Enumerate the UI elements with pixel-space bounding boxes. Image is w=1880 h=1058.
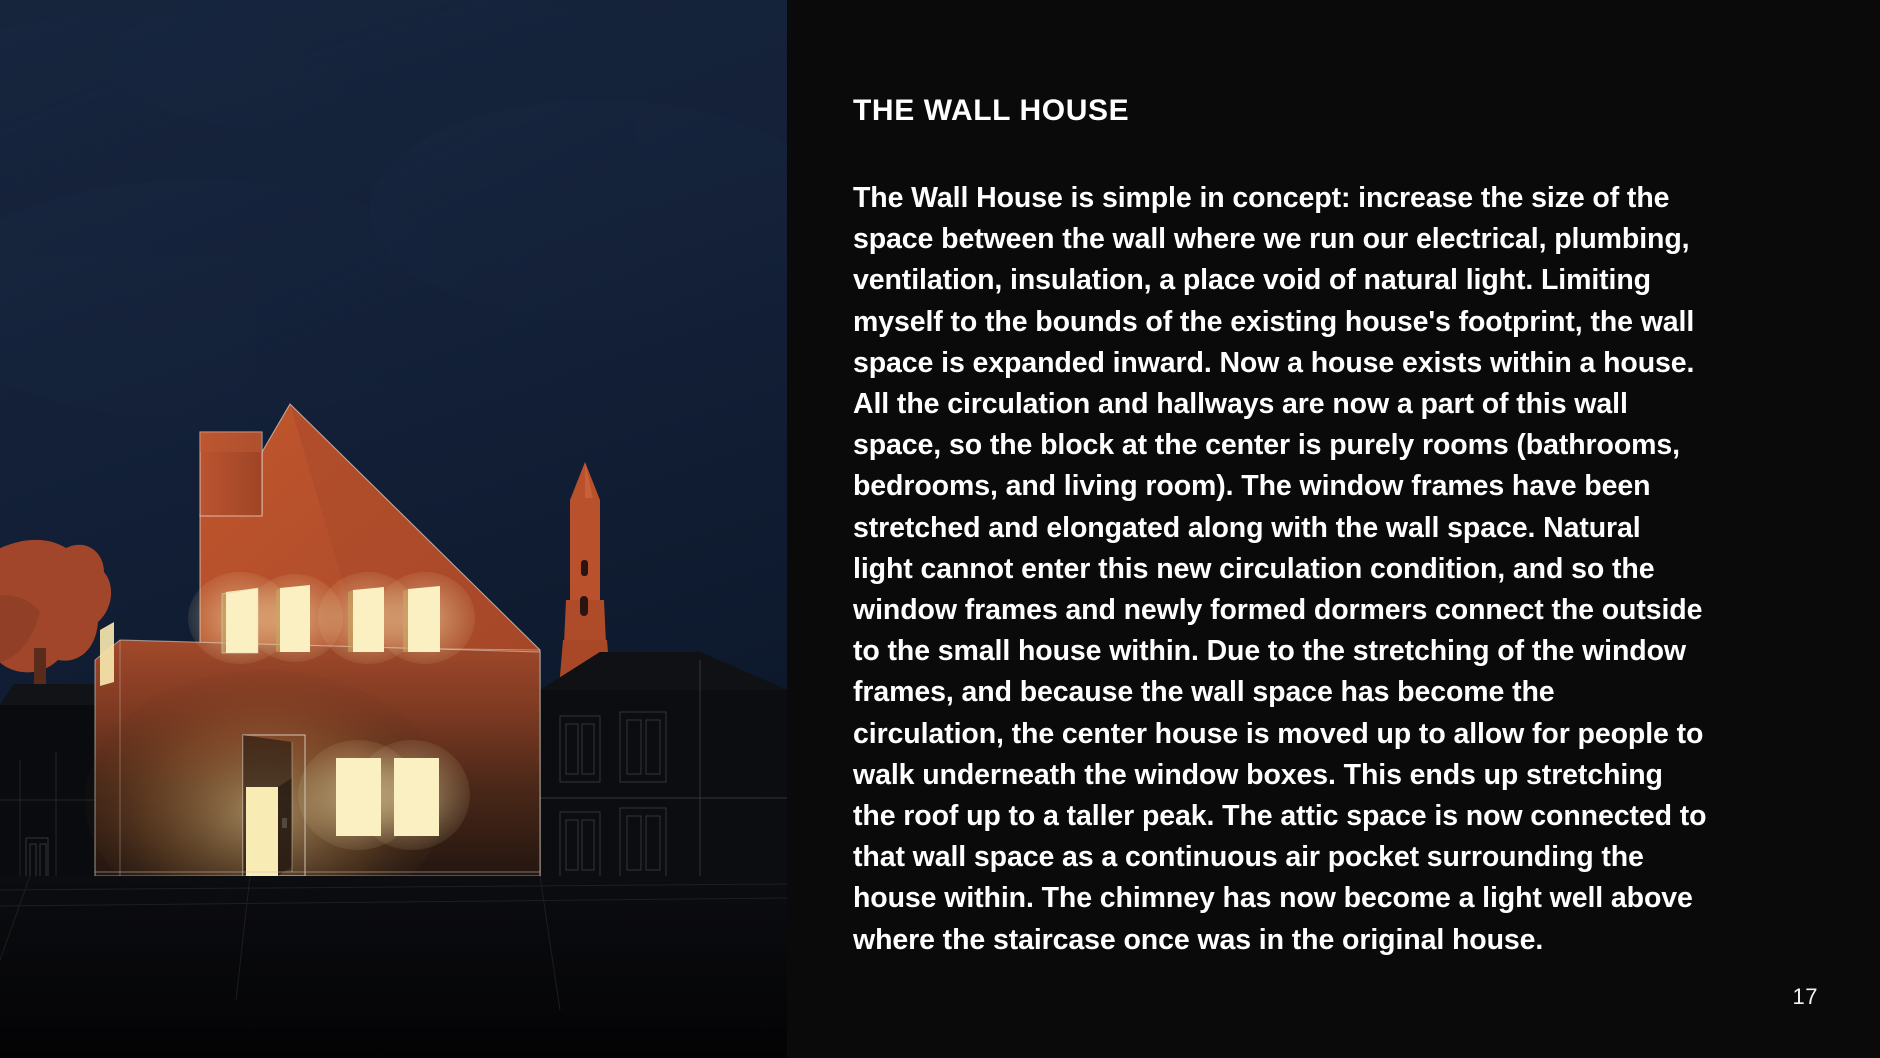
page-title: THE WALL HOUSE	[853, 94, 1129, 127]
dormer-window-2	[276, 585, 310, 652]
ground-floor-window-1	[336, 758, 381, 836]
dormer-window-3	[348, 587, 384, 652]
body-line: bedrooms, and living room). The window f…	[853, 466, 1858, 507]
body-line: frames, and because the wall space has b…	[853, 672, 1858, 713]
body-line: house within. The chimney has now become…	[853, 878, 1858, 919]
body-line: light cannot enter this new circulation …	[853, 549, 1858, 590]
roof-edge-light	[100, 622, 114, 686]
body-line: The Wall House is simple in concept: inc…	[853, 178, 1858, 219]
body-line: where the staircase once was in the orig…	[853, 920, 1858, 961]
body-line: All the circulation and hallways are now…	[853, 384, 1858, 425]
body-line: stretched and elongated along with the w…	[853, 508, 1858, 549]
chimney-light-well	[200, 432, 262, 516]
body-line: window frames and newly formed dormers c…	[853, 590, 1858, 631]
body-line: space is expanded inward. Now a house ex…	[853, 343, 1858, 384]
ground-floor-window-row	[298, 740, 470, 850]
architectural-rendering	[0, 0, 787, 1058]
dormer-window-1	[222, 588, 258, 653]
body-paragraph: The Wall House is simple in concept: inc…	[853, 178, 1858, 961]
ground-plane	[0, 872, 787, 1058]
body-line: ventilation, insulation, a place void of…	[853, 260, 1858, 301]
body-line: circulation, the center house is moved u…	[853, 714, 1858, 755]
ground-floor-window-2	[394, 758, 439, 836]
body-line: to the small house within. Due to the st…	[853, 631, 1858, 672]
dormer-window-4	[403, 586, 440, 652]
presentation-slide: THE WALL HOUSE The Wall House is simple …	[0, 0, 1880, 1058]
text-panel: THE WALL HOUSE The Wall House is simple …	[787, 0, 1880, 1058]
body-line: space, so the block at the center is pur…	[853, 425, 1858, 466]
body-line: that wall space as a continuous air pock…	[853, 837, 1858, 878]
page-number: 17	[1793, 984, 1818, 1010]
body-line: the roof up to a taller peak. The attic …	[853, 796, 1858, 837]
body-line: walk underneath the window boxes. This e…	[853, 755, 1858, 796]
body-line: myself to the bounds of the existing hou…	[853, 302, 1858, 343]
body-line: space between the wall where we run our …	[853, 219, 1858, 260]
render-canvas	[0, 0, 787, 1058]
door-light-opening	[246, 787, 278, 876]
